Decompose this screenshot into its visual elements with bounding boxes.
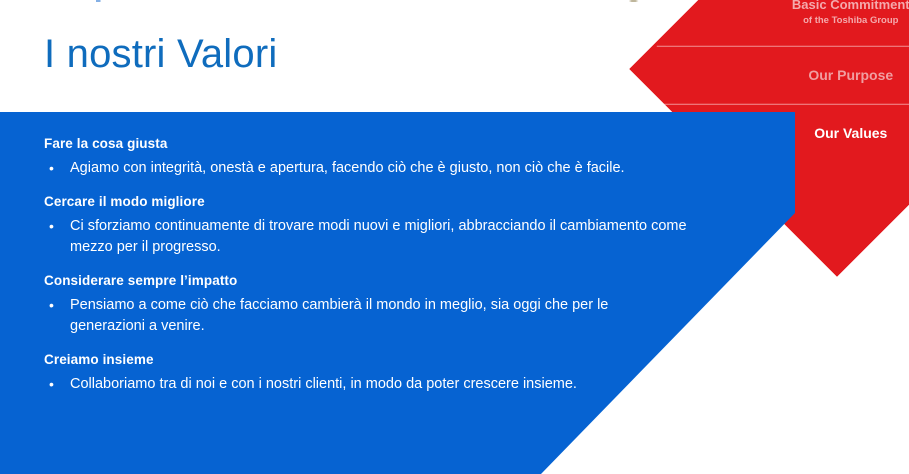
value-text: Ci sforziamo continuamente di trovare mo… (70, 216, 710, 258)
value-bullet-item: • Agiamo con integrità, onestà e apertur… (44, 158, 744, 179)
value-heading: Considerare sempre l’impatto (44, 271, 744, 290)
bullet-icon: • (44, 374, 70, 395)
value-block: Creiamo insieme • Collaboriamo tra di no… (44, 350, 744, 395)
diamond-band-our-purpose: Our Purpose (657, 66, 909, 84)
bullet-icon: • (44, 295, 70, 316)
value-text: Collaboriamo tra di noi e con i nostri c… (70, 374, 577, 395)
value-block: Cercare il modo migliore • Ci sforziamo … (44, 192, 744, 258)
value-block: Considerare sempre l’impatto • Pensiamo … (44, 271, 744, 337)
value-heading: Creiamo insieme (44, 350, 744, 369)
diamond-divider-1 (657, 46, 909, 47)
values-panel: Fare la cosa giusta • Agiamo con integri… (0, 112, 909, 474)
basic-commitment-sublabel: of the Toshiba Group (657, 14, 909, 27)
value-heading: Fare la cosa giusta (44, 134, 744, 153)
values-list: Fare la cosa giusta • Agiamo con integri… (44, 134, 744, 395)
value-bullet-item: • Ci sforziamo continuamente di trovare … (44, 216, 744, 258)
value-bullet-item: • Collaboriamo tra di noi e con i nostri… (44, 374, 744, 395)
value-text: Agiamo con integrità, onestà e apertura,… (70, 158, 625, 179)
bullet-icon: • (44, 158, 70, 179)
diamond-divider-2 (657, 104, 909, 105)
page-title: I nostri Valori (44, 28, 277, 80)
basic-commitment-label: Basic Commitment (792, 0, 909, 12)
value-bullet-item: • Pensiamo a come ciò che facciamo cambi… (44, 295, 744, 337)
value-heading: Cercare il modo migliore (44, 192, 744, 211)
slide-canvas: I nostri Valori Basic Commitment of the … (0, 0, 909, 474)
bullet-icon: • (44, 216, 70, 237)
value-text: Pensiamo a come ciò che facciamo cambier… (70, 295, 680, 337)
value-block: Fare la cosa giusta • Agiamo con integri… (44, 134, 744, 179)
diamond-band-basic-commitment: Basic Commitment of the Toshiba Group (657, 0, 909, 27)
